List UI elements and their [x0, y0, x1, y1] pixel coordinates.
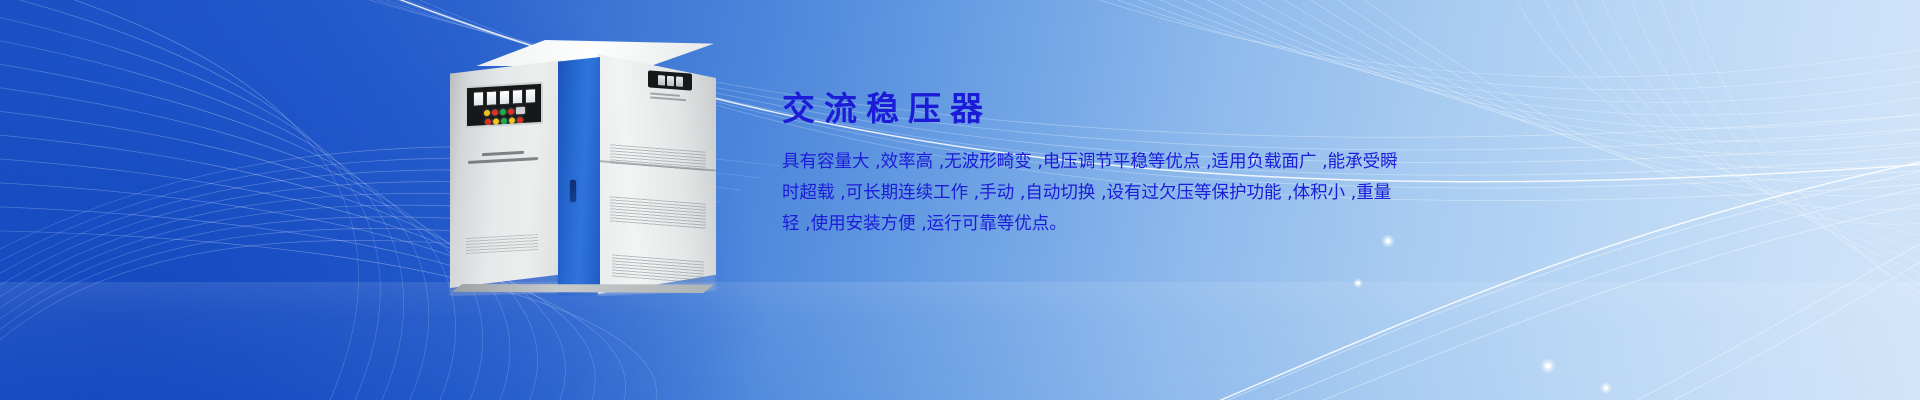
indicator-lamp-icon — [485, 119, 491, 125]
analog-meter-icon — [512, 89, 523, 105]
analog-meter-icon — [525, 88, 536, 104]
cabinet-door-handle — [570, 180, 576, 202]
meter-row — [471, 88, 537, 107]
description-line-1: 具有容量大 ,效率高 ,无波形畸变 ,电压调节平稳等优点 ,适用负载面广 ,能承… — [782, 147, 1430, 178]
cabinet — [432, 40, 732, 290]
description-line-2: 时超载 ,可长期连续工作 ,手动 ,自动切换 ,设有过欠压等保护功能 ,体积小 … — [782, 178, 1430, 209]
indicator-lamp-icon — [509, 117, 515, 123]
indicator-lamp-row-2 — [471, 116, 537, 126]
indicator-lamp-icon — [501, 118, 507, 124]
product-description: 具有容量大 ,效率高 ,无波形畸变 ,电压调节平稳等优点 ,适用负载面广 ,能承… — [782, 147, 1430, 240]
indicator-lamp-icon — [500, 108, 506, 114]
indicator-lamp-row-1 — [471, 106, 537, 117]
indicator-lamp-icon — [484, 109, 490, 115]
indicator-lamp-icon — [517, 117, 523, 123]
side-digital-display — [648, 70, 692, 90]
indicator-lamp-icon — [492, 109, 498, 115]
display-segment-icon — [658, 75, 665, 86]
cabinet-base-plinth — [452, 284, 714, 293]
page-title: 交流稳压器 — [782, 92, 1442, 125]
product-image-ac-voltage-stabilizer — [432, 40, 732, 360]
glossy-floor — [0, 282, 1920, 400]
product-banner: 交流稳压器 具有容量大 ,效率高 ,无波形畸变 ,电压调节平稳等优点 ,适用负载… — [0, 0, 1920, 400]
banner-copy: 交流稳压器 具有容量大 ,效率高 ,无波形畸变 ,电压调节平稳等优点 ,适用负载… — [782, 92, 1442, 240]
cabinet-blue-door — [558, 57, 600, 289]
description-line-3: 轻 ,使用安装方便 ,运行可靠等优点。 — [782, 209, 1430, 240]
display-segment-icon — [667, 75, 674, 86]
control-panel — [465, 82, 543, 128]
analog-meter-icon — [473, 91, 484, 107]
indicator-lamp-icon — [493, 118, 499, 124]
display-segment-icon — [676, 76, 683, 87]
analog-meter-icon — [486, 90, 497, 106]
indicator-lamp-icon — [508, 108, 514, 114]
analog-meter-icon — [499, 90, 510, 106]
toggle-switch-icon — [516, 107, 525, 115]
